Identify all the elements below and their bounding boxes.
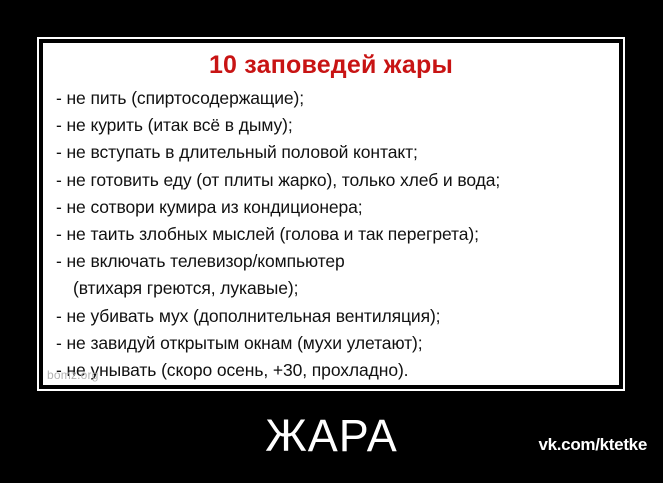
source-watermark: bomz.org xyxy=(47,368,99,382)
list-item: - не таить злобных мыслей (голова и так … xyxy=(56,221,616,248)
credit-link: vk.com/ktetke xyxy=(538,435,647,455)
list-item: - не завидуй открытым окнам (мухи улетаю… xyxy=(56,330,616,357)
list-item: - не пить (спиртосодержащие); xyxy=(56,85,616,112)
page-title: 10 заповедей жары xyxy=(43,51,619,80)
list-item: - не включать телевизор/компьютер xyxy=(56,248,616,275)
list-item: - не унывать (скоро осень, +30, прохладн… xyxy=(56,357,616,384)
commandment-list: - не пить (спиртосодержащие);- не курить… xyxy=(56,85,616,384)
poster-content-card: 10 заповедей жары - не пить (спиртосодер… xyxy=(43,43,619,385)
list-item: - не убивать мух (дополнительная вентиля… xyxy=(56,303,616,330)
list-item: (втихаря греются, лукавые); xyxy=(56,275,616,302)
list-item: - не сотвори кумира из кондиционера; xyxy=(56,194,616,221)
caption-band: ЖАРА vk.com/ktetke xyxy=(0,391,663,483)
list-item: - не готовить еду (от плиты жарко), толь… xyxy=(56,167,616,194)
poster-canvas: 10 заповедей жары - не пить (спиртосодер… xyxy=(0,0,663,483)
list-item: - не курить (итак всё в дыму); xyxy=(56,112,616,139)
list-item: - не вступать в длительный половой конта… xyxy=(56,139,616,166)
